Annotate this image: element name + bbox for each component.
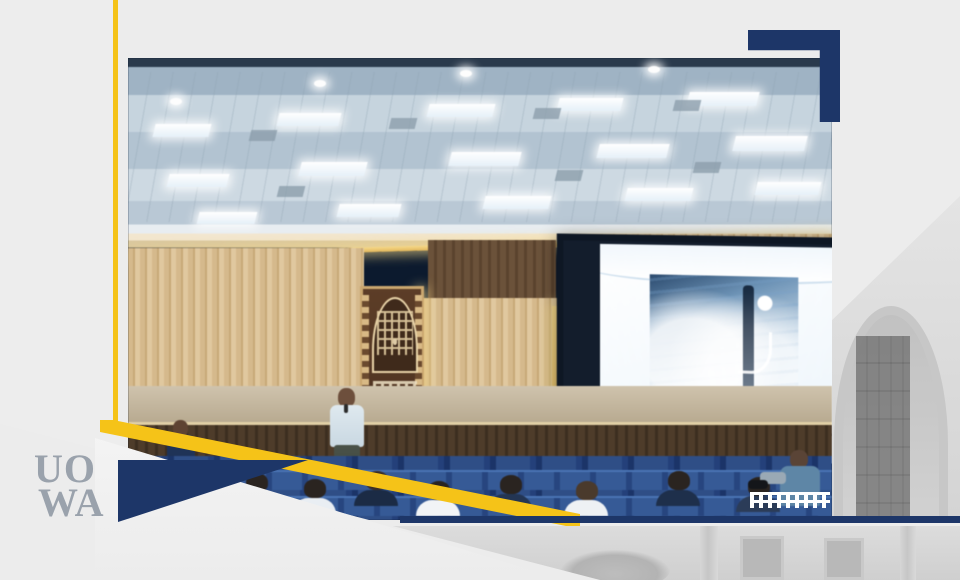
ceiling-spotlight <box>648 66 660 73</box>
audience-head <box>576 481 598 500</box>
building-window <box>740 536 784 580</box>
ceiling-spotlight <box>170 98 182 105</box>
ceiling-spotlight <box>460 70 472 77</box>
ceiling-light-panel <box>596 144 669 158</box>
ceiling-light-panel <box>624 188 693 201</box>
yellow-vertical-rule <box>113 0 118 432</box>
ceiling-light-panel <box>556 98 623 111</box>
ceiling-light-panel <box>482 196 551 209</box>
kufic-glyphs-icon <box>750 492 830 508</box>
ceiling-air-vent <box>555 170 584 181</box>
ceiling-light-panel <box>426 104 495 117</box>
ceiling-spotlight <box>314 80 326 87</box>
kufic-logo-badge: جامعة الوركاء <box>748 487 832 512</box>
navy-horizontal-bar <box>400 516 960 523</box>
building-window <box>824 538 864 580</box>
ceiling-air-vent <box>673 100 702 111</box>
uowa-wordmark: UO WA <box>34 452 104 521</box>
ceiling-air-vent <box>277 186 306 197</box>
background-building-arch-right <box>826 196 960 520</box>
background-diagonal-mask <box>826 196 960 326</box>
ceiling-light-panel <box>448 152 521 166</box>
building-column <box>700 526 718 580</box>
audience-shoulders <box>656 490 700 506</box>
ceiling-light-panel <box>276 113 341 126</box>
audience-head <box>500 475 522 494</box>
ceiling-light-panel <box>732 136 808 151</box>
xray-catheter <box>738 332 772 375</box>
ceiling-air-vent <box>693 162 722 173</box>
audience-shoulders <box>354 490 398 506</box>
ceiling-air-vent <box>389 118 418 129</box>
presenter-microphone-icon <box>344 404 348 413</box>
ceiling-light-panel <box>197 212 258 224</box>
audience-head <box>304 479 326 498</box>
wall-dark-panel <box>428 240 556 306</box>
audience-head <box>668 471 690 490</box>
stage-floor <box>128 386 832 424</box>
ceiling-light-panel <box>166 174 229 187</box>
ceiling-light-panel <box>298 162 367 176</box>
panel-calligraphy <box>377 311 413 355</box>
ceiling-light-panel <box>336 204 401 217</box>
wordmark-line-2: WA <box>38 486 104 520</box>
building-column <box>900 526 916 580</box>
ceiling-light-panel <box>754 182 821 195</box>
ceiling-air-vent <box>533 108 562 119</box>
ceiling-air-vent <box>249 130 278 141</box>
ceiling-light-panel <box>152 124 211 137</box>
